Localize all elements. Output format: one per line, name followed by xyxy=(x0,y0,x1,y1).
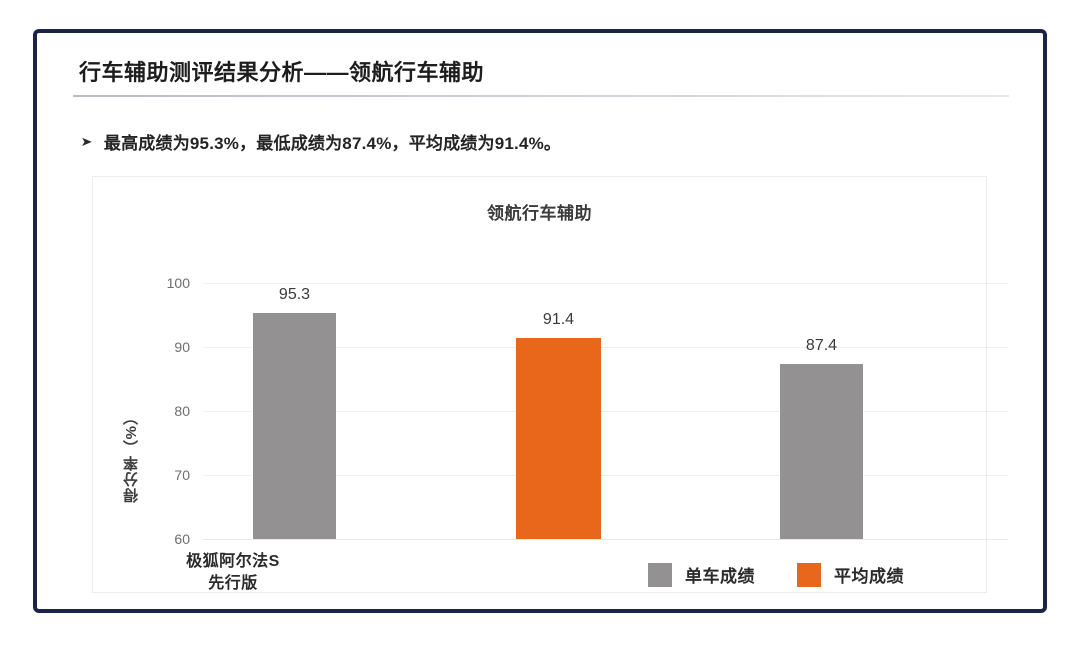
category-label-line2: 先行版 xyxy=(186,573,280,595)
bar: 87.4 xyxy=(780,364,863,539)
plot-area: 10090807060 95.391.487.4 xyxy=(203,283,1008,539)
slide-frame: 行车辅助测评结果分析——领航行车辅助 ➤ 最高成绩为95.3%，最低成绩为87.… xyxy=(33,29,1047,613)
bullet-text: 最高成绩为95.3%，最低成绩为87.4%，平均成绩为91.4%。 xyxy=(104,129,561,154)
category-label-line1: 极狐阿尔法S xyxy=(186,551,280,573)
bar-value-label: 91.4 xyxy=(543,311,574,329)
y-tick-label-80: 80 xyxy=(174,403,190,419)
gridline-100: 100 xyxy=(203,283,1008,284)
y-tick-label-70: 70 xyxy=(174,467,190,483)
legend-swatch-orange xyxy=(797,563,821,587)
y-tick-label-90: 90 xyxy=(174,339,190,355)
y-tick-label-60: 60 xyxy=(174,531,190,547)
title-divider xyxy=(73,95,1009,97)
bar: 91.4 xyxy=(516,338,601,539)
chart-panel: 领航行车辅助 得分率（%） 10090807060 95.391.487.4 极… xyxy=(92,176,987,593)
bar-value-label: 95.3 xyxy=(279,286,310,304)
legend-swatch-gray xyxy=(648,563,672,587)
y-axis-title: 得分率（%） xyxy=(121,409,142,503)
bar: 95.3 xyxy=(253,313,336,539)
x-axis-category-label: 极狐阿尔法S 先行版 xyxy=(186,551,280,594)
bar-value-label: 87.4 xyxy=(806,337,837,355)
bullet-row: ➤ 最高成绩为95.3%，最低成绩为87.4%，平均成绩为91.4%。 xyxy=(81,129,561,154)
chart-legend: 单车成绩 平均成绩 xyxy=(648,562,904,587)
page-title: 行车辅助测评结果分析——领航行车辅助 xyxy=(79,55,484,87)
y-tick-label-100: 100 xyxy=(167,275,190,291)
bullet-arrow-icon: ➤ xyxy=(80,135,92,148)
legend-label-single: 单车成绩 xyxy=(685,562,755,587)
legend-item-single: 单车成绩 xyxy=(648,562,755,587)
chart-title: 领航行车辅助 xyxy=(93,199,986,224)
legend-label-average: 平均成绩 xyxy=(834,562,904,587)
legend-item-average: 平均成绩 xyxy=(797,562,904,587)
gridline-60: 60 xyxy=(203,539,1008,540)
